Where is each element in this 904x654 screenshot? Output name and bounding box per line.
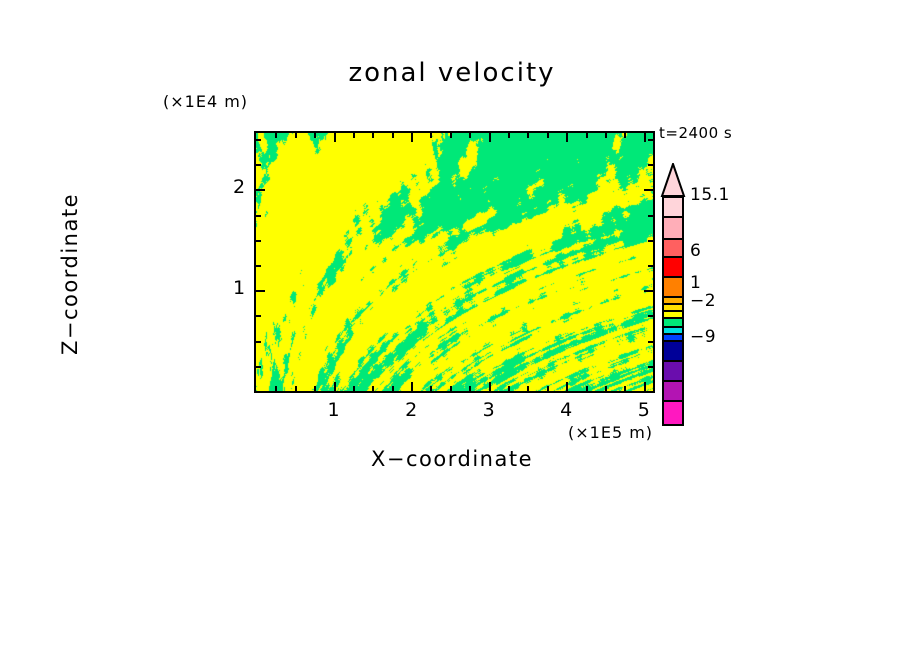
axis-tick xyxy=(372,133,374,138)
axis-tick xyxy=(644,189,653,191)
colorbar-tick-label: 6 xyxy=(690,241,701,261)
axis-tick xyxy=(430,133,432,138)
colorbar-band xyxy=(662,276,684,296)
axis-tick xyxy=(353,133,355,138)
axis-tick xyxy=(256,139,261,141)
axis-tick xyxy=(256,366,261,368)
axis-tick xyxy=(411,382,413,391)
colorbar-band xyxy=(662,238,684,256)
axis-tick xyxy=(566,382,568,391)
axis-tick xyxy=(624,386,626,391)
axis-tick xyxy=(648,139,653,141)
axis-tick xyxy=(256,341,261,343)
axis-tick xyxy=(527,386,529,391)
colorbar-band xyxy=(662,317,684,326)
axis-tick xyxy=(644,290,653,292)
axis-tick xyxy=(392,386,394,391)
axis-tick xyxy=(392,133,394,138)
page-title: zonal velocity xyxy=(0,58,904,88)
colorbar-band xyxy=(662,326,684,333)
axis-tick xyxy=(566,133,568,142)
axis-tick xyxy=(547,386,549,391)
x-axis-tick-label: 5 xyxy=(638,399,650,421)
axis-tick xyxy=(411,133,413,142)
velocity-field-canvas xyxy=(256,133,653,391)
axis-tick xyxy=(275,133,277,138)
axis-tick xyxy=(648,240,653,242)
axis-tick xyxy=(648,315,653,317)
colorbar-band xyxy=(662,380,684,400)
axis-tick xyxy=(624,133,626,138)
axis-tick xyxy=(295,133,297,138)
colorbar-tick-label: 15.1 xyxy=(690,185,730,205)
x-axis-title: X−coordinate xyxy=(0,447,904,471)
x-axis-tick-label: 4 xyxy=(560,399,572,421)
axis-tick xyxy=(256,189,265,191)
axis-tick xyxy=(605,386,607,391)
axis-tick xyxy=(508,133,510,138)
colorbar-tick-label: 1 xyxy=(690,273,701,293)
axis-tick xyxy=(547,133,549,138)
axis-tick xyxy=(314,133,316,138)
y-axis-tick-label: 1 xyxy=(233,277,245,299)
axis-tick xyxy=(256,315,261,317)
axis-tick xyxy=(605,133,607,138)
axis-tick xyxy=(644,382,646,391)
time-annotation: t=2400 s xyxy=(659,124,732,142)
axis-tick xyxy=(450,386,452,391)
axis-tick xyxy=(430,386,432,391)
axis-tick xyxy=(450,133,452,138)
axis-tick xyxy=(256,240,261,242)
axis-tick xyxy=(334,133,336,142)
colorbar-band xyxy=(662,303,684,310)
axis-tick xyxy=(586,386,588,391)
colorbar-band xyxy=(662,400,684,426)
axis-tick xyxy=(508,386,510,391)
colorbar-band xyxy=(662,256,684,276)
colorbar-band xyxy=(662,310,684,317)
axis-tick xyxy=(644,133,646,142)
contour-plot-area xyxy=(254,131,655,393)
axis-tick xyxy=(586,133,588,138)
colorbar-band xyxy=(662,340,684,360)
colorbar-tick-label: −9 xyxy=(690,327,716,347)
axis-tick xyxy=(314,386,316,391)
axis-tick xyxy=(334,382,336,391)
colorbar-band xyxy=(662,360,684,380)
axis-tick xyxy=(295,386,297,391)
y-axis-unit-label: (×1E4 m) xyxy=(163,92,248,111)
y-axis-tick-label: 2 xyxy=(233,176,245,198)
colorbar-band xyxy=(662,196,684,216)
axis-tick xyxy=(489,133,491,142)
axis-tick xyxy=(469,386,471,391)
axis-tick xyxy=(648,366,653,368)
axis-tick xyxy=(469,133,471,138)
colorbar-band xyxy=(662,296,684,303)
axis-tick xyxy=(256,215,261,217)
axis-tick xyxy=(256,265,261,267)
y-axis-title: Z−coordinate xyxy=(58,144,82,404)
axis-tick xyxy=(648,265,653,267)
x-axis-tick-label: 3 xyxy=(483,399,495,421)
axis-tick xyxy=(353,386,355,391)
colorbar-arrow-cap xyxy=(660,163,686,197)
axis-tick xyxy=(648,215,653,217)
x-axis-unit-label: (×1E5 m) xyxy=(568,423,653,442)
x-axis-tick-label: 1 xyxy=(328,399,340,421)
colorbar-band xyxy=(662,333,684,340)
axis-tick xyxy=(256,290,265,292)
axis-tick xyxy=(527,133,529,138)
colorbar-tick-label: −2 xyxy=(690,291,716,311)
colorbar xyxy=(662,196,684,426)
axis-tick xyxy=(256,164,261,166)
axis-tick xyxy=(489,382,491,391)
axis-tick xyxy=(372,386,374,391)
axis-tick xyxy=(275,386,277,391)
axis-tick xyxy=(648,341,653,343)
x-axis-tick-label: 2 xyxy=(405,399,417,421)
colorbar-band xyxy=(662,216,684,238)
axis-tick xyxy=(648,164,653,166)
